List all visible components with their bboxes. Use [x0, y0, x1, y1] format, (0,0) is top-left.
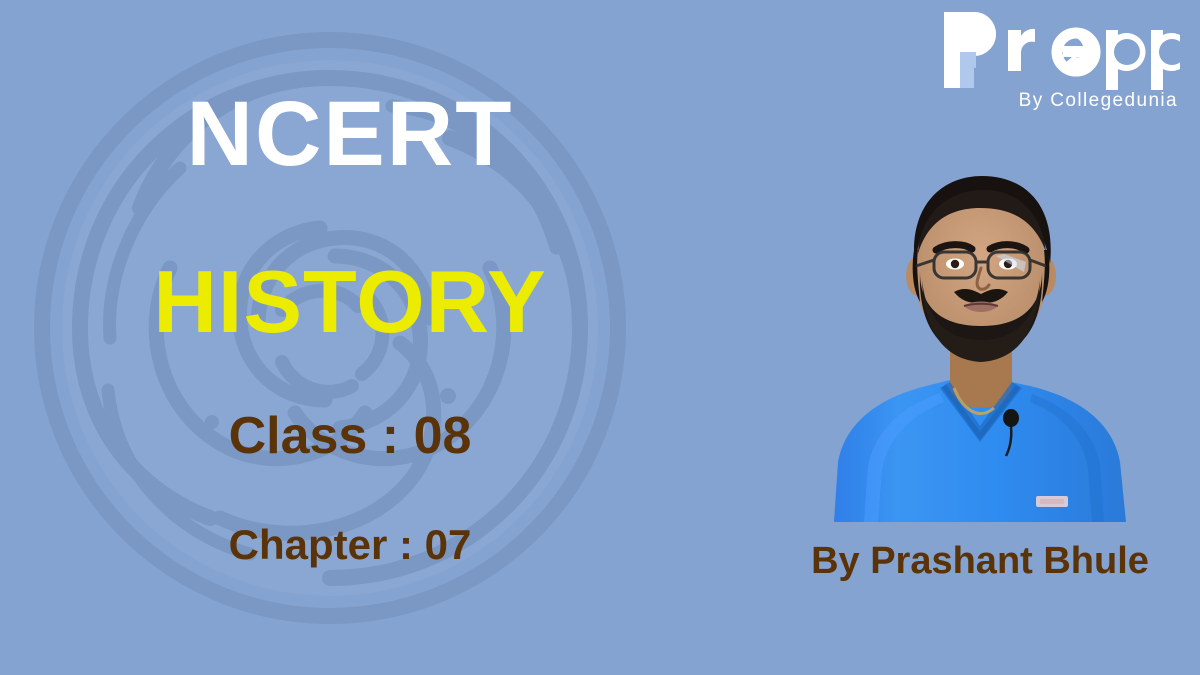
video-lesson-title-slide: NCERT HISTORY Class : 08 Chapter : 07 [0, 0, 1200, 675]
title-block: NCERT HISTORY Class : 08 Chapter : 07 [0, 0, 740, 675]
page-title-ncert: NCERT [0, 88, 700, 180]
logo-tagline: By Collegedunia [1019, 90, 1178, 112]
class-label: Class : 08 [0, 410, 700, 462]
presenter-byline: By Prashant Bhule [760, 542, 1200, 580]
prepp-wordmark-icon [930, 8, 1180, 95]
prepp-logo: By Collegedunia [930, 8, 1180, 128]
page-title-subject: HISTORY [0, 258, 700, 346]
presenter-video [768, 150, 1192, 522]
chapter-label: Chapter : 07 [0, 524, 700, 566]
